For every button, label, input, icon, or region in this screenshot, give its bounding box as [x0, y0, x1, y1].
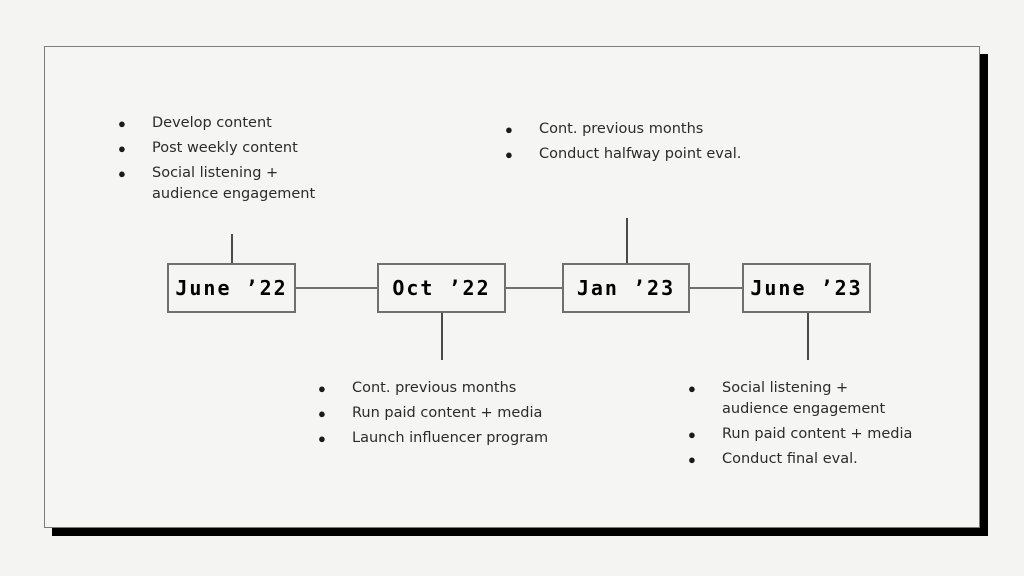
- connector-jan23-june23: [688, 287, 744, 289]
- milestone-box-june-23[interactable]: June ’23: [742, 263, 871, 313]
- list-item-text: Develop content: [152, 113, 272, 134]
- bullet-icon: ●: [505, 119, 539, 140]
- bullet-icon: ●: [318, 378, 352, 399]
- bullet-icon: ●: [118, 138, 152, 159]
- milestone-box-june-22[interactable]: June ’22: [167, 263, 296, 313]
- bullet-icon: ●: [118, 113, 152, 134]
- list-item: ● Conduct halfway point eval.: [505, 144, 741, 165]
- list-item: ● Cont. previous months: [505, 119, 741, 140]
- list-item: ● Post weekly content: [118, 138, 315, 159]
- bullet-icon: ●: [688, 449, 722, 470]
- list-item: ● Conduct final eval.: [688, 449, 912, 470]
- bullet-icon: ●: [688, 378, 722, 399]
- milestone-box-jan-23[interactable]: Jan ’23: [562, 263, 690, 313]
- connector-oct22-jan23: [504, 287, 564, 289]
- milestone-label-june-22: June ’22: [175, 278, 287, 298]
- bullet-icon: ●: [505, 144, 539, 165]
- list-item: ● Develop content: [118, 113, 315, 134]
- annotations-june-23: ● Social listening + audience engagement…: [688, 378, 912, 474]
- list-item: ● Social listening + audience engagement: [688, 378, 912, 420]
- milestone-box-oct-22[interactable]: Oct ’22: [377, 263, 506, 313]
- list-item-text: Cont. previous months: [539, 119, 703, 140]
- milestone-label-oct-22: Oct ’22: [392, 278, 490, 298]
- timeline-diagram: June ’22 Oct ’22 Jan ’23 June ’23 ● Deve…: [0, 0, 1024, 576]
- annotations-jan-23: ● Cont. previous months ● Conduct halfwa…: [505, 119, 741, 169]
- stem-jan23-up: [626, 218, 628, 264]
- bullet-icon: ●: [318, 403, 352, 424]
- list-item: ● Social listening + audience engagement: [118, 163, 315, 205]
- connector-june22-oct22: [294, 287, 379, 289]
- list-item-text: Conduct halfway point eval.: [539, 144, 741, 165]
- milestone-label-june-23: June ’23: [750, 278, 862, 298]
- list-item: ● Run paid content + media: [688, 424, 912, 445]
- bullet-icon: ●: [318, 428, 352, 449]
- list-item-text: Social listening + audience engagement: [152, 163, 315, 205]
- list-item-text: Launch influencer program: [352, 428, 548, 449]
- stem-oct22-down: [441, 312, 443, 360]
- stem-june22-up: [231, 234, 233, 264]
- list-item: ● Run paid content + media: [318, 403, 548, 424]
- milestone-label-jan-23: Jan ’23: [577, 278, 675, 298]
- list-item-text: Social listening + audience engagement: [722, 378, 885, 420]
- list-item-text: Cont. previous months: [352, 378, 516, 399]
- bullet-icon: ●: [688, 424, 722, 445]
- list-item-text: Run paid content + media: [352, 403, 542, 424]
- annotations-june-22: ● Develop content ● Post weekly content …: [118, 113, 315, 209]
- list-item: ● Launch influencer program: [318, 428, 548, 449]
- list-item: ● Cont. previous months: [318, 378, 548, 399]
- annotations-oct-22: ● Cont. previous months ● Run paid conte…: [318, 378, 548, 453]
- stem-june23-down: [807, 312, 809, 360]
- bullet-icon: ●: [118, 163, 152, 184]
- list-item-text: Conduct final eval.: [722, 449, 858, 470]
- list-item-text: Post weekly content: [152, 138, 298, 159]
- list-item-text: Run paid content + media: [722, 424, 912, 445]
